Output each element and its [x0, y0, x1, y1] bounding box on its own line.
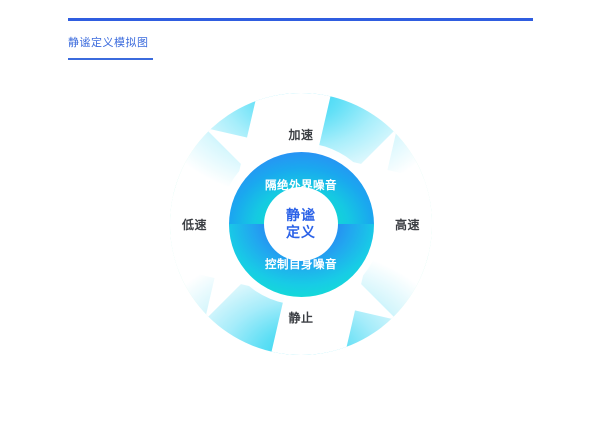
inner-label-bottom: 控制自身噪音	[170, 256, 432, 272]
outer-label-left: 低速	[182, 216, 207, 233]
header-top-rule	[68, 18, 533, 21]
outer-label-right: 高速	[395, 216, 420, 233]
center-text-line-2: 定义	[286, 224, 316, 241]
outer-label-top: 加速	[170, 126, 432, 143]
inner-label-top: 隔绝外界噪音	[170, 177, 432, 193]
center-text-line-1: 静谧	[286, 207, 316, 224]
page-title: 静谧定义模拟图	[68, 36, 149, 50]
quiet-definition-ring-diagram: 加速 高速 静止 低速 静谧 定义 隔绝外界噪音 控制自身噪音	[170, 93, 432, 355]
center-circle: 静谧 定义	[264, 187, 338, 261]
outer-label-bottom: 静止	[170, 309, 432, 326]
title-underline	[68, 58, 153, 60]
inner-ring: 静谧 定义	[229, 152, 374, 297]
